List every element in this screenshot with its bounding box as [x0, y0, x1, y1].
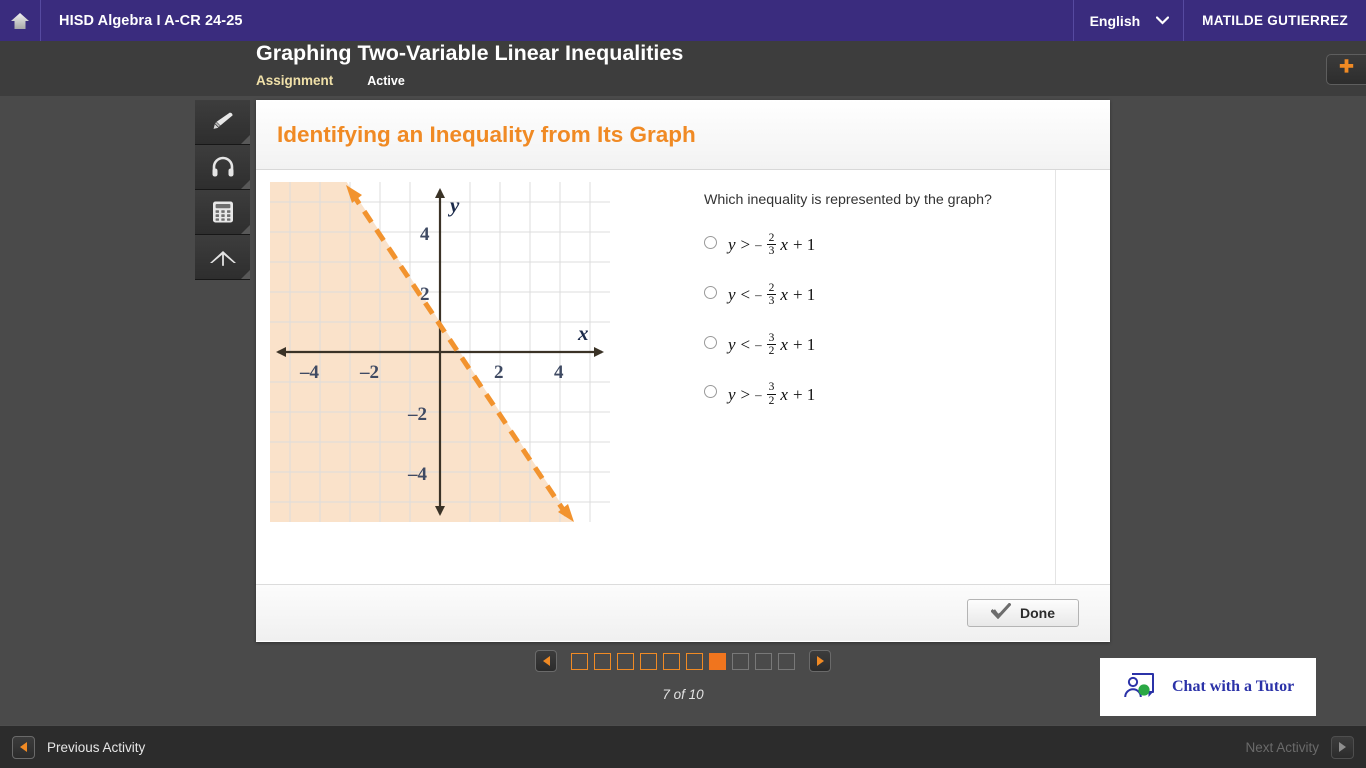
chat-with-tutor-label: Chat with a Tutor	[1172, 678, 1294, 696]
option-c-numerator: 3	[767, 332, 777, 345]
page-dot-3[interactable]	[617, 653, 634, 670]
x-axis-label: x	[577, 321, 589, 345]
triangle-left-icon	[20, 742, 27, 752]
done-button[interactable]: Done	[967, 599, 1079, 627]
option-d-variable: y	[728, 386, 736, 403]
question-column: Which inequality is represented by the g…	[686, 170, 1056, 584]
home-icon	[10, 11, 30, 31]
pencil-icon	[210, 109, 236, 135]
previous-activity-button[interactable]: Previous Activity	[12, 736, 145, 759]
option-d-xterm: x	[780, 386, 788, 403]
answer-option-d[interactable]: y > – 3 2 x + 1	[704, 381, 1055, 407]
card-right-strip	[1056, 170, 1110, 584]
page-dot-8[interactable]	[732, 653, 749, 670]
page-dot-7[interactable]	[709, 653, 726, 670]
y-tick-4: 4	[420, 224, 430, 245]
page-title: Graphing Two-Variable Linear Inequalitie…	[256, 41, 683, 66]
option-b-tail: + 1	[791, 286, 817, 303]
page-dot-4[interactable]	[640, 653, 657, 670]
option-b-denominator: 3	[767, 295, 777, 307]
option-c-relation: <	[739, 336, 753, 353]
answer-option-b[interactable]: y < – 2 3 x + 1	[704, 282, 1055, 308]
highlighter-tool[interactable]	[195, 100, 250, 145]
y-tick-2: 2	[420, 284, 430, 305]
pagination-count: 7 of 10	[662, 687, 703, 702]
done-label: Done	[1020, 605, 1055, 621]
card-header: Identifying an Inequality from Its Graph	[256, 100, 1110, 170]
protractor-tool[interactable]	[195, 235, 250, 280]
course-title: HISD Algebra I A-CR 24-25	[41, 0, 243, 41]
option-b-fraction: 2 3	[767, 282, 777, 308]
audio-tool[interactable]	[195, 145, 250, 190]
radio-option-c[interactable]	[704, 336, 717, 349]
graph-column: –4 –2 2 4 4 2 –2 –4 x y	[256, 170, 686, 584]
tutor-chat-icon	[1122, 670, 1158, 705]
option-b-variable: y	[728, 286, 736, 303]
radio-option-b[interactable]	[704, 286, 717, 299]
option-b-relation: <	[739, 286, 753, 303]
option-a-tail: + 1	[791, 236, 817, 253]
pagination-row	[535, 650, 831, 672]
protractor-icon	[208, 246, 238, 268]
previous-activity-label: Previous Activity	[47, 740, 145, 755]
option-c-denominator: 2	[767, 345, 777, 357]
assignment-type-label: Assignment	[256, 73, 333, 88]
page-dot-1[interactable]	[571, 653, 588, 670]
answer-option-a[interactable]: y > – 2 3 x + 1	[704, 232, 1055, 258]
next-activity-button: Next Activity	[1245, 736, 1354, 759]
page-dot-9[interactable]	[755, 653, 772, 670]
activity-card: Identifying an Inequality from Its Graph	[256, 100, 1110, 642]
card-body: –4 –2 2 4 4 2 –2 –4 x y Which inequality…	[256, 170, 1110, 585]
triangle-right-icon	[1339, 742, 1346, 752]
calculator-tool[interactable]	[195, 190, 250, 235]
option-b-xterm: x	[780, 286, 788, 303]
option-c-expression: y < – 3 2 x + 1	[728, 332, 817, 358]
page-dot-5[interactable]	[663, 653, 680, 670]
headphones-icon	[210, 154, 236, 180]
option-c-variable: y	[728, 336, 736, 353]
option-a-expression: y > – 2 3 x + 1	[728, 232, 817, 258]
question-prompt: Which inequality is represented by the g…	[704, 192, 1055, 208]
card-title: Identifying an Inequality from Its Graph	[256, 122, 696, 148]
radio-option-d[interactable]	[704, 385, 717, 398]
option-d-tail: + 1	[791, 386, 817, 403]
option-b-expression: y < – 2 3 x + 1	[728, 282, 817, 308]
page-dot-10[interactable]	[778, 653, 795, 670]
activity-navigation-bar: Previous Activity Next Activity	[0, 725, 1366, 768]
pagination-prev-button[interactable]	[535, 650, 557, 672]
answer-option-c[interactable]: y < – 3 2 x + 1	[704, 332, 1055, 358]
checkmark-icon	[991, 603, 1011, 624]
next-activity-label: Next Activity	[1245, 740, 1319, 755]
add-button[interactable]	[1326, 54, 1366, 85]
tool-rail	[195, 100, 250, 280]
assignment-header: Graphing Two-Variable Linear Inequalitie…	[0, 41, 1366, 96]
language-label: English	[1090, 13, 1141, 29]
option-c-fraction: 3 2	[767, 332, 777, 358]
option-c-xterm: x	[780, 336, 788, 353]
option-d-relation: >	[739, 386, 753, 403]
option-c-tail: + 1	[791, 336, 817, 353]
option-a-denominator: 3	[767, 245, 777, 257]
triangle-right-icon	[817, 656, 824, 666]
user-account-name[interactable]: MATILDE GUTIERREZ	[1184, 0, 1366, 41]
x-tick-neg2: –2	[359, 362, 379, 383]
option-a-variable: y	[728, 236, 736, 253]
page-dot-2[interactable]	[594, 653, 611, 670]
status-badge: Active	[367, 74, 405, 88]
page-dot-6[interactable]	[686, 653, 703, 670]
x-tick-neg4: –4	[299, 362, 320, 383]
topbar-right-group: English MATILDE GUTIERREZ	[1073, 0, 1366, 41]
triangle-left-icon	[543, 656, 550, 666]
option-d-fraction: 3 2	[767, 381, 777, 407]
plus-icon	[1337, 58, 1356, 81]
option-a-relation: >	[739, 236, 753, 253]
option-c-sign: –	[755, 338, 762, 351]
option-d-denominator: 2	[767, 395, 777, 407]
home-button[interactable]	[0, 0, 41, 41]
x-tick-4: 4	[554, 362, 564, 383]
assignment-meta: Assignment Active	[256, 73, 405, 88]
y-tick-neg4: –4	[407, 464, 428, 485]
pagination-next-button[interactable]	[809, 650, 831, 672]
option-d-numerator: 3	[767, 381, 777, 394]
y-tick-neg2: –2	[407, 404, 427, 425]
option-d-sign: –	[755, 388, 762, 401]
option-a-xterm: x	[780, 236, 788, 253]
option-b-numerator: 2	[767, 282, 777, 295]
chevron-down-icon	[1156, 14, 1169, 27]
card-footer: Done	[256, 585, 1110, 641]
option-a-numerator: 2	[767, 232, 777, 245]
chat-with-tutor-button[interactable]: Chat with a Tutor	[1100, 658, 1316, 716]
next-activity-arrow-button	[1331, 736, 1354, 759]
inequality-graph: –4 –2 2 4 4 2 –2 –4 x y	[270, 182, 610, 522]
x-tick-2: 2	[494, 362, 504, 383]
option-d-expression: y > – 3 2 x + 1	[728, 381, 817, 407]
radio-option-a[interactable]	[704, 236, 717, 249]
calculator-icon	[211, 199, 235, 225]
option-a-sign: –	[755, 238, 762, 251]
top-navigation-bar: HISD Algebra I A-CR 24-25 English MATILD…	[0, 0, 1366, 41]
previous-activity-arrow-button[interactable]	[12, 736, 35, 759]
language-selector[interactable]: English	[1073, 0, 1185, 41]
option-a-fraction: 2 3	[767, 232, 777, 258]
option-b-sign: –	[755, 288, 762, 301]
